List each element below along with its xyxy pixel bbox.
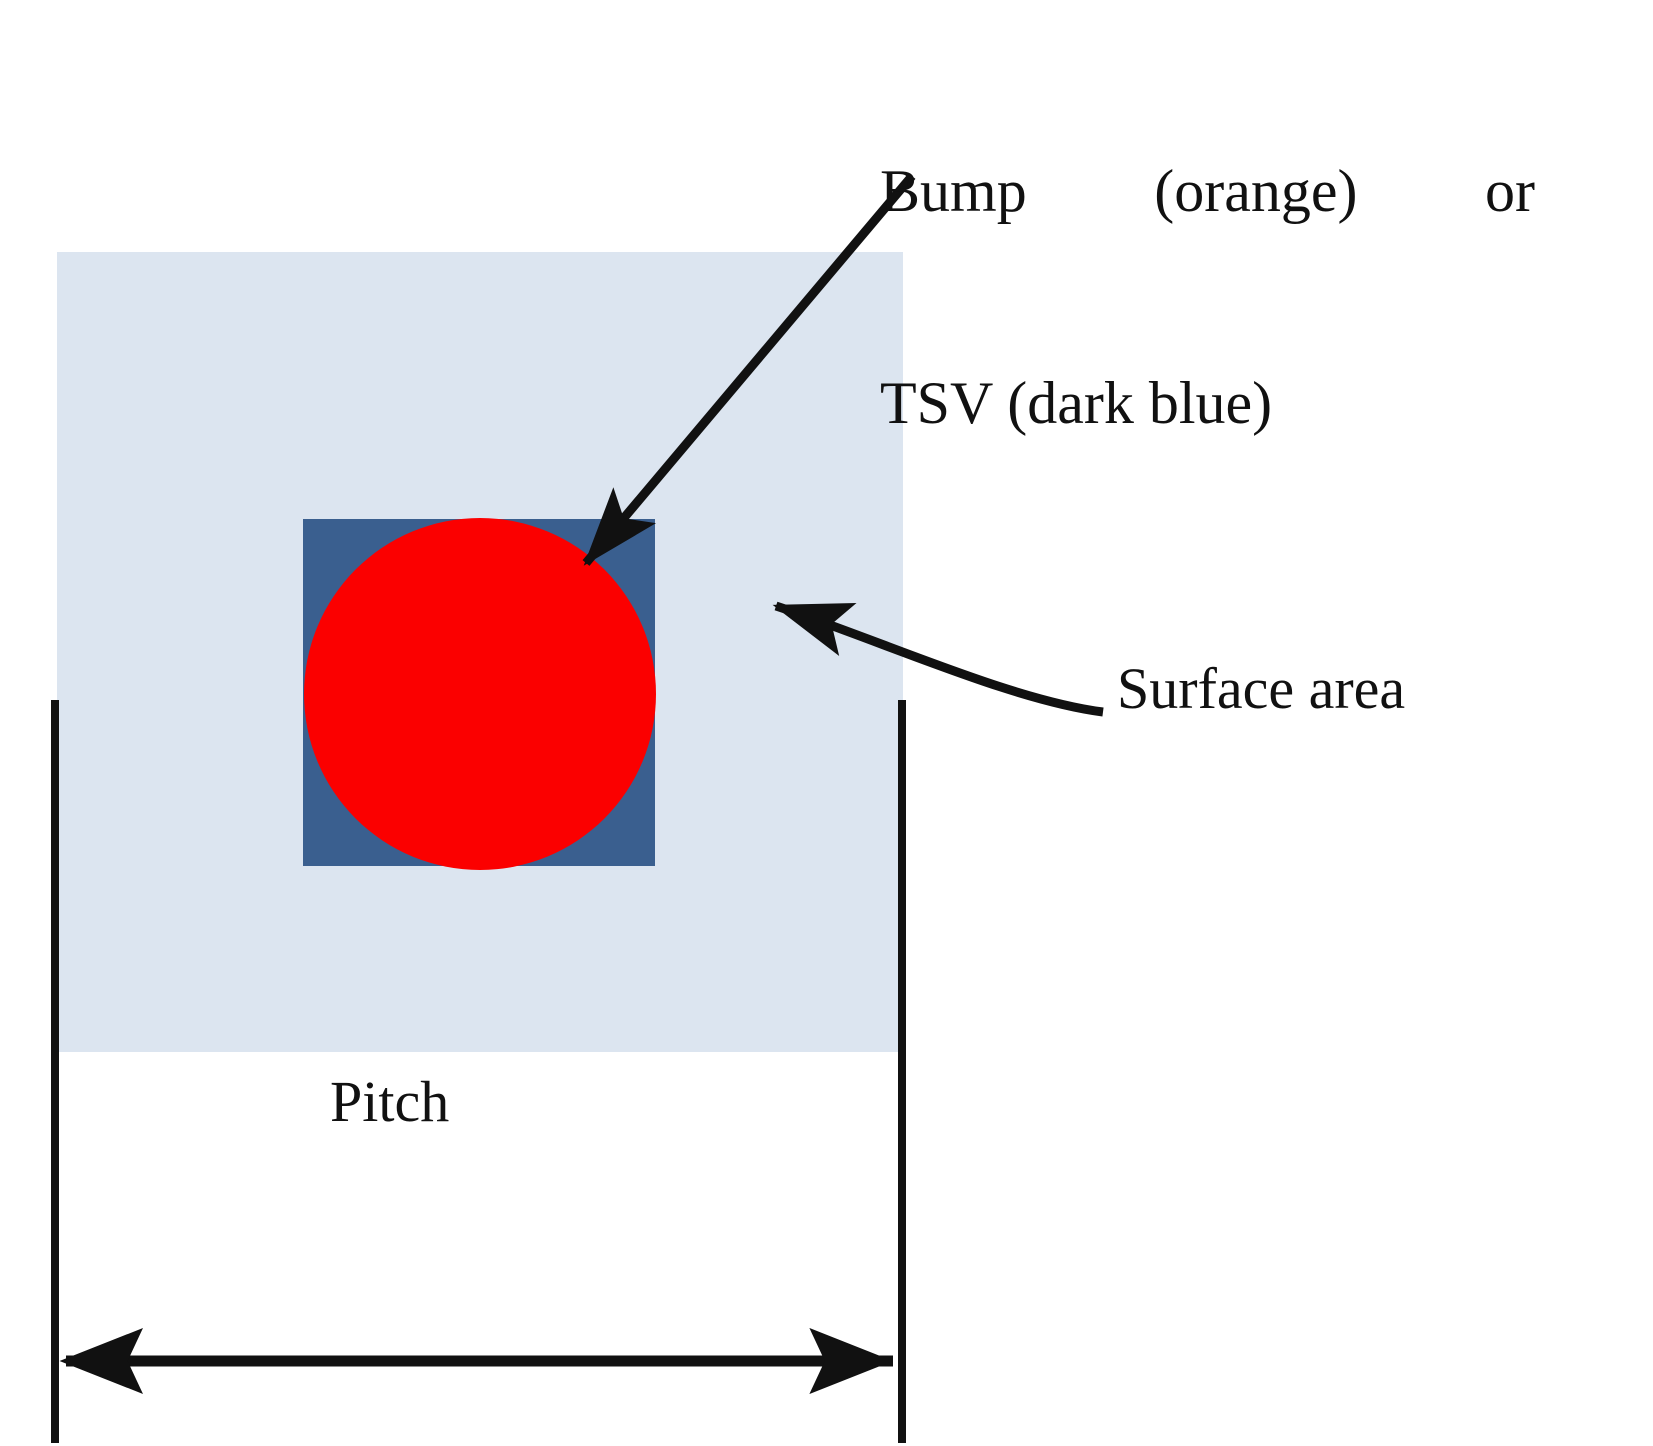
bump-callout-word-0: Bump bbox=[880, 156, 1027, 227]
bump-callout-word-2: or bbox=[1485, 156, 1535, 227]
surface-area-label: Surface area bbox=[1117, 655, 1405, 723]
bump-tsv-callout-label: Bump (orange) or TSV (dark blue) bbox=[880, 14, 1640, 580]
bump-callout-line-2: TSV (dark blue) bbox=[880, 368, 1640, 439]
figure-canvas: Bump (orange) or TSV (dark blue) Surface… bbox=[0, 0, 1653, 1446]
pitch-label: Pitch bbox=[330, 1068, 449, 1136]
bump-callout-line-1: Bump (orange) or bbox=[880, 156, 1535, 227]
bump-circle bbox=[304, 518, 656, 870]
bump-callout-word-1: (orange) bbox=[1154, 156, 1357, 227]
